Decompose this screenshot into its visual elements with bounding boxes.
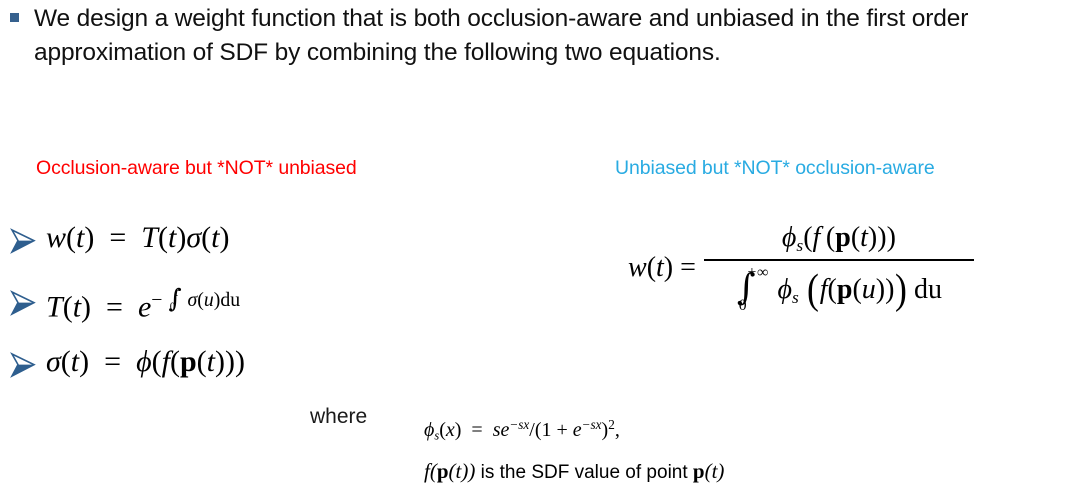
left-equation-list: w(t) = T(t)σ(t) T(t) = e− ∫t0 σ(u)du σ(t… [10,218,530,404]
where-equations: ϕs(x) = se−sx/(1 + e−sx)2, f(p(t)) is th… [424,407,724,491]
fraction-equation: w(t) = ϕs(f (p(t))) ∫+∞0 ϕs (f(p(u))) du [628,222,974,314]
bullet-block: We design a weight function that is both… [10,2,1080,70]
equation-sigma-body: σ(t) = ϕ(f(p(t))) [46,342,245,382]
header-occlusion-aware-not-unbiased: Occlusion-aware but *NOT* unbiased [36,157,357,180]
bullet-row: We design a weight function that is both… [10,2,1080,70]
bullet-paragraph: We design a weight function that is both… [34,2,1069,70]
where-definition-phi: ϕs(x) = se−sx/(1 + e−sx)2, [424,407,724,453]
arrow-bullet-icon [10,352,38,378]
fraction-denominator: ∫+∞0 ϕs (f(p(u))) du [726,261,952,314]
fraction-lhs: w(t) = [628,252,696,284]
header-unbiased-not-occlusion-aware: Unbiased but *NOT* occlusion-aware [615,157,935,180]
where-sdf-text: is the SDF value of point [475,462,693,483]
where-label: where [310,405,367,429]
fraction: ϕs(f (p(t))) ∫+∞0 ϕs (f(p(u))) du [704,222,974,314]
equation-row-T: T(t) = e− ∫t0 σ(u)du [10,280,530,342]
equation-T-body: T(t) = e− ∫t0 σ(u)du [46,280,240,327]
equation-row-sigma: σ(t) = ϕ(f(p(t))) [10,342,530,404]
square-bullet-icon [10,13,19,22]
equation-w-body: w(t) = T(t)σ(t) [46,218,229,258]
fraction-numerator: ϕs(f (p(t))) [772,222,906,259]
arrow-bullet-icon [10,228,38,254]
arrow-bullet-icon [10,290,38,316]
where-definition-sdf: f(p(t)) is the SDF value of point p(t) [424,453,724,491]
equation-row-w: w(t) = T(t)σ(t) [10,218,530,280]
